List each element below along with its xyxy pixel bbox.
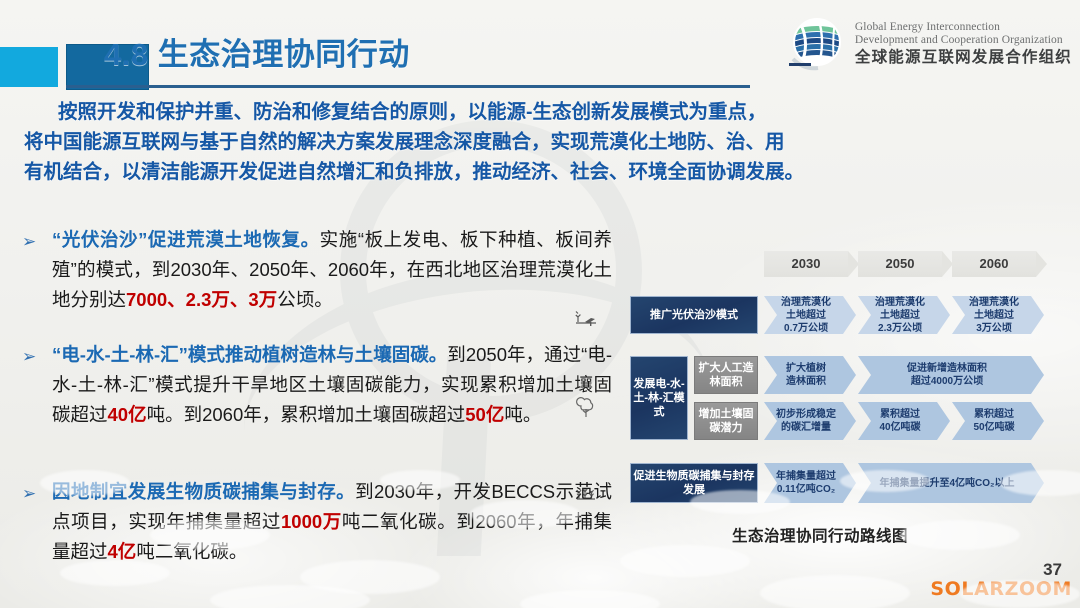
header-accent-square-cyan — [0, 47, 58, 87]
page-title: 4.8 生态治理协同行动 — [104, 29, 410, 74]
row-1-label: 推广光伏治沙模式 — [630, 296, 758, 334]
bullet-3-highlight: 1000万 — [281, 511, 342, 532]
bullet-2-highlight-2: 50亿 — [465, 404, 504, 425]
year-header-2030: 2030 — [764, 251, 848, 277]
background-texture-blob — [690, 490, 790, 514]
bullet-2-heading: “电-水-土-林-汇”模式推动植树造林与土壤固碳。 — [52, 344, 447, 365]
background-texture-blob — [470, 500, 580, 528]
background-texture-blob — [520, 590, 660, 608]
year-header-2060: 2060 — [952, 251, 1036, 277]
background-texture-blob — [380, 470, 460, 490]
lead-line-2: 将中国能源互联网与基于自然的解决方案发展理念深度融合，实现荒漠化土地防、治、用 — [24, 127, 1058, 157]
organization-logo: Global Energy Interconnection Developmen… — [788, 8, 1072, 80]
background-texture-blob — [150, 520, 270, 550]
title-underline — [66, 85, 750, 88]
bullet-2-highlight: 40亿 — [108, 404, 147, 425]
background-texture-blob — [760, 575, 910, 608]
background-texture-blob — [900, 520, 1020, 550]
bullet-3-highlight-2: 4亿 — [108, 541, 137, 562]
row-2-label: 发展电-水-土-林-汇模式 — [630, 356, 688, 440]
year-header-2050: 2050 — [858, 251, 942, 277]
background-texture-blob — [60, 560, 170, 586]
background-texture-blob — [40, 470, 130, 496]
slide-canvas: 4.8 生态治理协同行动 — [0, 0, 1080, 608]
bullet-marker-icon: ➢ — [22, 227, 36, 257]
bullet-2-text-b: 吨。到2060年，累积增加土壤固碳超过 — [147, 404, 466, 425]
background-texture-blob — [840, 470, 930, 492]
lead-line-1: 按照开发和保护并重、防治和修复结合的原则，以能源-生态创新发展模式为重点， — [24, 97, 1058, 127]
globe-logo-icon — [788, 15, 846, 73]
logo-text-block: Global Energy Interconnection Developmen… — [855, 21, 1072, 66]
row-2-top-cell-2030: 扩大植树 造林面积 — [764, 356, 856, 394]
background-texture-blob — [210, 585, 370, 608]
slide-header: 4.8 生态治理协同行动 — [0, 0, 1080, 96]
row-2-sublabel-2: 增加土壤固碳潜力 — [694, 402, 758, 440]
bullet-marker-icon: ➢ — [22, 342, 36, 372]
row-1-cell-2030: 治理荒漠化 土地超过 0.7万公顷 — [764, 296, 856, 334]
desert-solar-icon — [574, 306, 598, 331]
row-1-cell-2050: 治理荒漠化 土地超过 2.3万公顷 — [858, 296, 950, 334]
row-2-top-cell-2050-2060: 促进新增造林面积 超过4000万公顷 — [858, 356, 1044, 394]
lead-line-3: 有机结合，以清洁能源开发促进自然增汇和负排放，推动经济、社会、环境全面协调发展。 — [24, 157, 1058, 187]
lead-paragraph: 按照开发和保护并重、防治和修复结合的原则，以能源-生态创新发展模式为重点， 将中… — [24, 97, 1058, 187]
logo-en-line1: Global Energy Interconnection — [855, 21, 1072, 34]
row-1-cell-2060: 治理荒漠化 土地超过 3万公顷 — [952, 296, 1044, 334]
logo-cn-name: 全球能源互联网发展合作组织 — [855, 49, 1072, 66]
page-number: 37 — [1043, 560, 1062, 580]
background-texture-blob — [620, 545, 750, 577]
bullet-item-1: ➢ “光伏治沙”促进荒漠土地恢复。实施“板上发电、板下种植、板间养殖”的模式，到… — [22, 225, 612, 315]
bullet-1-text-b: 公顷。 — [277, 289, 333, 310]
bullet-item-2: ➢ “电-水-土-林-汇”模式推动植树造林与土壤固碳。到2050年，通过“电-水… — [22, 340, 612, 430]
logo-en-line2: Development and Cooperation Organization — [855, 34, 1072, 47]
tree-icon — [574, 396, 598, 423]
forest-icon — [574, 480, 598, 505]
bullet-1-body: “光伏治沙”促进荒漠土地恢复。实施“板上发电、板下种植、板间养殖”的模式，到20… — [52, 225, 612, 315]
row-2-bottom-cell-2050: 累积超过 40亿吨碳 — [858, 402, 950, 440]
roadmap-diagram: 2030 2050 2060 — [566, 248, 1074, 548]
row-2-bottom-cell-2060: 累积超过 50亿吨碳 — [952, 402, 1044, 440]
bullet-marker-icon: ➢ — [22, 479, 36, 509]
row-2-sublabel-1: 扩大人工造林面积 — [694, 356, 758, 394]
bullet-2-body: “电-水-土-林-汇”模式推动植树造林与土壤固碳。到2050年，通过“电-水-土… — [52, 340, 612, 430]
bullet-1-heading: “光伏治沙”促进荒漠土地恢复。 — [52, 229, 320, 250]
row-2-bottom-cell-2030: 初步形成稳定 的碳汇增量 — [764, 402, 856, 440]
background-texture-blob — [960, 580, 1080, 608]
bullet-1-highlight: 7000、2.3万、3万 — [126, 289, 277, 310]
bullet-2-text-c: 吨。 — [504, 404, 541, 425]
